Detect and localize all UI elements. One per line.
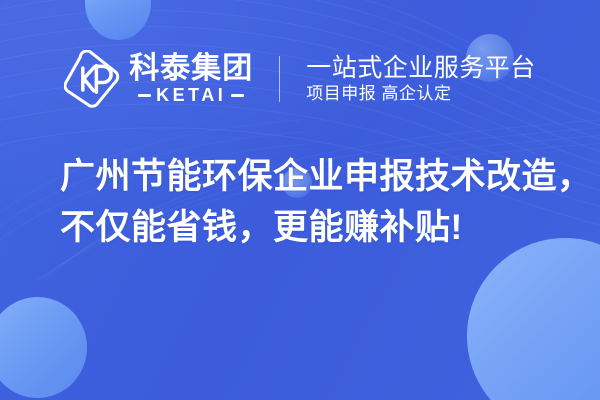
banner-header: 科泰集团 KETAI 一站式企业服务平台 项目申报 高企认定 [0,44,600,114]
header-divider [279,56,280,102]
promo-banner: 科泰集团 KETAI 一站式企业服务平台 项目申报 高企认定 广州节能环保企业申… [0,0,600,400]
tagline-main: 一站式企业服务平台 [306,55,536,81]
tagline: 一站式企业服务平台 项目申报 高企认定 [306,55,536,103]
headline: 广州节能环保企业申报技术改造， 不仅能省钱，更能赚补贴! [60,152,560,254]
ketai-kp-diamond-logo-icon [64,50,120,108]
dash-left-icon [138,94,151,97]
brand-logo: 科泰集团 KETAI [64,50,253,108]
dash-right-icon [231,94,244,97]
brand-name-en-row: KETAI [129,86,253,104]
tagline-sub: 项目申报 高企认定 [306,85,536,103]
headline-line-2: 不仅能省钱，更能赚补贴! [60,203,560,254]
brand-name-cn: 科泰集团 [129,54,253,84]
headline-line-1: 广州节能环保企业申报技术改造， [60,152,560,203]
brand-wordmark: 科泰集团 KETAI [129,54,253,104]
brand-name-en: KETAI [156,86,226,104]
